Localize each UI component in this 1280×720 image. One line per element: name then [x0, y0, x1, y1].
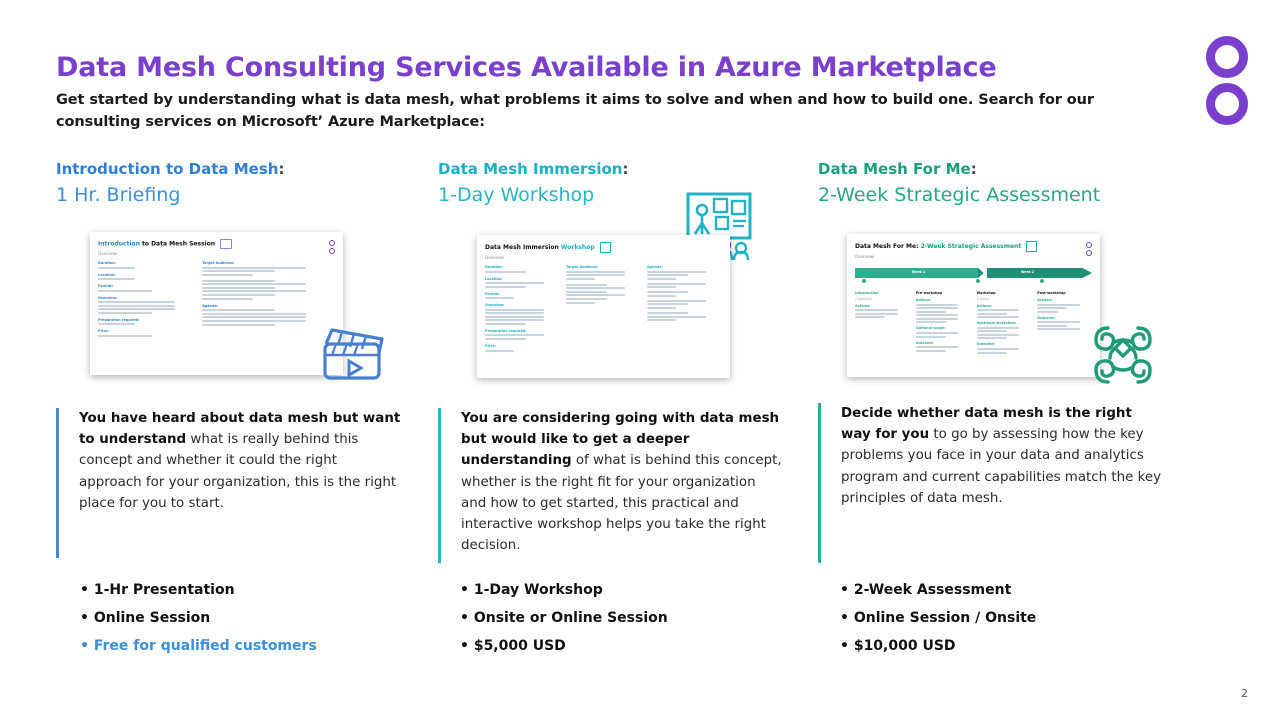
thumb-section-heading: Overview:: [485, 303, 560, 307]
thumb-logo-dots: [329, 240, 335, 256]
thumb-text-line: [202, 298, 252, 300]
thumb-text-line: [916, 346, 959, 348]
thumb-text-line: [485, 350, 514, 352]
thumb-text-line: [485, 309, 544, 311]
thumb-text-line: [485, 286, 526, 288]
list-item: • $10,000 USD: [840, 632, 1036, 660]
accent-bar: [56, 408, 59, 558]
timeline-phase-label: Week 2: [1021, 270, 1034, 274]
thumb-section-heading: Target Audience:: [202, 261, 335, 265]
column-kicker-colon: :: [278, 160, 284, 178]
thumb-text-line: [647, 278, 676, 280]
thumb-text-line: [916, 332, 959, 334]
thumb-text-line: [98, 312, 152, 314]
value-prop-for-me: Decide whether data mesh is the right wa…: [818, 403, 1163, 563]
thumb-text-line: [647, 291, 688, 293]
thumb-text-line: [566, 284, 607, 286]
thumb-logo-ring-bottom: [1086, 250, 1092, 256]
thumb-text-line: [202, 274, 252, 276]
thumb-text-line: [916, 304, 959, 306]
thumb-logo-ring-top: [329, 240, 335, 246]
thumb-title: Data Mesh Immersion Workshop: [485, 242, 722, 253]
thumb-panel-introduction: Introduction (Optional) Actions:: [855, 291, 910, 355]
thumb-text-line: [485, 271, 526, 273]
thumb-text-line: [916, 350, 946, 352]
thumb-text-line: [916, 321, 946, 323]
list-item: • 1-Day Workshop: [460, 576, 668, 604]
thumb-section-heading: Format:: [98, 284, 196, 288]
bullet-label: 1-Day Workshop: [474, 582, 603, 598]
thumb-text-line: [485, 316, 544, 318]
thumb-text-line: [977, 337, 1007, 339]
thumb-column-left: Duration: Location: Format: Overview: Pr…: [98, 261, 196, 338]
thumb-text-line: [566, 291, 607, 293]
timeline-phase-label: Week 1: [912, 270, 925, 274]
thumb-text-line: [855, 316, 885, 318]
thumb-text-line: [1037, 307, 1067, 309]
thumb-title-rest: 2-Week Strategic Assessment: [918, 243, 1021, 250]
thumb-title-rest: Workshop: [559, 244, 595, 251]
thumb-text-line: [202, 290, 306, 292]
thumb-panel-heading: Pre-workshop: [916, 291, 971, 295]
accent-bar: [438, 408, 441, 563]
thumb-panel-workshop: Workshop 4 hours Actions: Upstream works…: [977, 291, 1032, 355]
list-item: • $5,000 USD: [460, 632, 668, 660]
timeline-stop-dot: [976, 279, 980, 283]
thumb-text-line: [202, 309, 275, 311]
timeline-bar: [855, 268, 1092, 278]
thumb-section-heading: Actions:: [977, 304, 1032, 308]
thumb-section-heading: Price:: [485, 344, 560, 348]
thumb-section-heading: Duration:: [98, 261, 196, 265]
timeline-stop-dot: [1040, 279, 1044, 283]
thumb-section-heading: Format:: [485, 292, 560, 296]
list-item-highlight: • Free for qualified customers: [80, 632, 317, 660]
thumb-section-heading: Actions:: [855, 304, 910, 308]
thumb-text-line: [647, 319, 676, 321]
thumbnail-for-me-deck[interactable]: Data Mesh For Me: 2-Week Strategic Asses…: [847, 234, 1100, 377]
column-kicker-text: Data Mesh For Me: [818, 160, 971, 178]
bullet-label: Online Session: [94, 610, 210, 626]
thumb-title-strong: Data Mesh Immersion: [485, 244, 559, 251]
thumb-text-line: [566, 271, 625, 273]
thumb-logo-dots: [1086, 242, 1092, 258]
thumb-text-line: [202, 294, 275, 296]
thumb-panel-pre-workshop: Pre-workshop Actions: Optional scope: Ou…: [916, 291, 971, 355]
thumb-text-line: [855, 309, 898, 311]
thumb-text-line: [202, 267, 306, 269]
thumb-header: Introduction to Data Mesh Session Overvi…: [90, 232, 343, 259]
thumb-text-line: [977, 330, 1007, 332]
page-title: Data Mesh Consulting Services Available …: [56, 52, 996, 83]
thumb-panel-sub: 4 hours: [977, 297, 1032, 301]
thumb-text-line: [202, 324, 275, 326]
features-list-introduction: • 1-Hr Presentation • Online Session • F…: [80, 576, 317, 660]
thumb-text-line: [202, 270, 275, 272]
thumb-title-strong: Introduction: [98, 241, 140, 248]
bullet-label: Onsite or Online Session: [474, 610, 668, 626]
thumb-text-line: [855, 313, 898, 315]
thumb-section-heading: Duration:: [485, 265, 560, 269]
thumb-text-line: [98, 323, 135, 325]
column-kicker: Data Mesh For Me:: [818, 160, 1210, 179]
thumb-title-strong: Data Mesh For Me:: [855, 243, 918, 250]
bullet-label: 1-Hr Presentation: [94, 582, 235, 598]
thumb-text-line: [647, 295, 676, 297]
thumb-subtitle: Overview: [485, 255, 722, 260]
thumb-text-line: [977, 309, 1020, 311]
thumb-text-line: [98, 290, 152, 292]
column-kicker-text: Introduction to Data Mesh: [56, 160, 278, 178]
list-item: • Online Session: [80, 604, 317, 632]
thumb-text-line: [566, 298, 607, 300]
thumb-text-line: [202, 283, 306, 285]
thumb-text-line: [1037, 321, 1080, 323]
thumb-text-line: [647, 286, 676, 288]
thumb-logo-ring-bottom: [329, 248, 335, 254]
timeline-stops: [855, 282, 1092, 287]
page-number: 2: [1241, 687, 1248, 700]
thumb-text-line: [1037, 328, 1080, 330]
thumb-text-line: [916, 307, 959, 309]
column-kicker-text: Data Mesh Immersion: [438, 160, 622, 178]
thumb-text-line: [916, 336, 946, 338]
thumb-panel-heading: Workshop: [977, 291, 1032, 295]
thumb-text-line: [977, 313, 1007, 315]
thumb-text-line: [98, 305, 175, 307]
thumb-section-heading: Actions:: [916, 298, 971, 302]
thumb-text-line: [977, 334, 1020, 336]
list-item: • 2-Week Assessment: [840, 576, 1036, 604]
column-kicker: Introduction to Data Mesh:: [56, 160, 448, 179]
logo-ring-top: [1206, 36, 1248, 78]
page-subtitle: Get started by understanding what is dat…: [56, 90, 1141, 134]
thumb-text-line: [977, 352, 1007, 354]
thumb-section-heading: Location:: [98, 273, 196, 277]
column-immersion: Data Mesh Immersion: 1-Day Workshop: [438, 160, 830, 207]
thumb-section-heading: Price:: [98, 329, 196, 333]
thumb-text-line: [202, 320, 306, 322]
thumb-text-line: [647, 300, 706, 302]
thumb-section-heading: Target Audience:: [566, 265, 641, 269]
thumb-text-line: [916, 311, 946, 313]
features-list-immersion: • 1-Day Workshop • Onsite or Online Sess…: [460, 576, 668, 660]
thumb-text-line: [647, 316, 706, 318]
thumb-text-line: [98, 301, 175, 303]
value-prop-immersion: You are considering going with data mesh…: [438, 408, 783, 563]
thumb-text-line: [647, 307, 676, 309]
thumb-text-line: [485, 338, 526, 340]
thumb-text-line: [1037, 325, 1067, 327]
thumb-film-clapper-icon: [220, 239, 232, 249]
thumb-panel-post-workshop: Post-workshop Actions: Outcome:: [1037, 291, 1092, 355]
thoughtworks-logo: [1206, 36, 1252, 130]
thumb-text-line: [98, 308, 175, 310]
thumb-text-line: [647, 274, 688, 276]
thumb-text-line: [485, 297, 514, 299]
thumb-section-heading: Location:: [485, 277, 560, 281]
thumb-section-heading: Outcome:: [977, 342, 1032, 346]
thumb-title-rest: to Data Mesh Session: [140, 241, 215, 248]
column-kicker-colon: :: [622, 160, 628, 178]
thumb-title: Data Mesh For Me: 2-Week Strategic Asses…: [855, 241, 1092, 252]
thumb-column-middle: Target Audience:: [566, 265, 641, 353]
thumb-text-line: [98, 335, 152, 337]
thumb-text-line: [977, 348, 1020, 350]
thumb-section-heading: Outcome:: [1037, 316, 1092, 320]
thumb-text-line: [202, 280, 275, 282]
thumb-text-line: [485, 334, 544, 336]
thumb-text-line: [485, 312, 544, 314]
thumb-body: Introduction (Optional) Actions: Pre-wor…: [847, 287, 1100, 357]
thumb-text-line: [202, 287, 275, 289]
thumb-header: Data Mesh For Me: 2-Week Strategic Asses…: [847, 234, 1100, 262]
thumb-subtitle: Overview: [98, 251, 335, 256]
thumb-column-agenda: Agenda:: [647, 265, 722, 353]
thumb-panel-sub: (Optional): [855, 297, 910, 301]
thumb-text-line: [485, 282, 544, 284]
bullet-label: Free for qualified customers: [94, 638, 317, 654]
thumb-header: Data Mesh Immersion Workshop Overview: [477, 235, 730, 263]
accent-bar: [818, 403, 821, 563]
thumb-text-line: [647, 312, 688, 314]
features-list-for-me: • 2-Week Assessment • Online Session / O…: [840, 576, 1036, 660]
value-prop-introduction: You have heard about data mesh but want …: [56, 408, 401, 558]
thumbnail-introduction-deck[interactable]: Introduction to Data Mesh Session Overvi…: [90, 232, 343, 375]
column-headline: 1 Hr. Briefing: [56, 183, 448, 208]
thumb-presentation-board-icon: [600, 242, 611, 253]
bullet-label: Online Session / Onsite: [854, 610, 1036, 626]
list-item: • Online Session / Onsite: [840, 604, 1036, 632]
thumb-text-line: [977, 327, 1020, 329]
thumb-text-line: [647, 283, 706, 285]
thumb-panel-heading: Introduction: [855, 291, 910, 295]
column-headline: 2-Week Strategic Assessment: [818, 183, 1210, 208]
thumb-section-heading: Agenda:: [202, 304, 335, 308]
column-for-me: Data Mesh For Me: 2-Week Strategic Asses…: [818, 160, 1210, 207]
thumb-section-heading: Optional scope:: [916, 326, 971, 330]
thumb-text-line: [202, 316, 306, 318]
thumb-mesh-knot-icon: [1026, 241, 1037, 252]
bullet-label: $5,000 USD: [474, 638, 566, 654]
column-kicker: Data Mesh Immersion:: [438, 160, 830, 179]
thumb-text-line: [566, 302, 595, 304]
thumb-section-heading: Upstream workshop:: [977, 321, 1032, 325]
list-item: • Onsite or Online Session: [460, 604, 668, 632]
logo-ring-bottom: [1206, 83, 1248, 125]
thumb-text-line: [566, 287, 625, 289]
thumb-text-line: [1037, 311, 1058, 313]
column-headline: 1-Day Workshop: [438, 183, 830, 208]
thumb-text-line: [98, 267, 135, 269]
column-kicker-colon: :: [971, 160, 977, 178]
film-clapper-icon: [316, 322, 388, 384]
thumb-section-heading: Preparation required:: [485, 329, 560, 333]
thumbnail-immersion-deck[interactable]: Data Mesh Immersion Workshop Overview Du…: [477, 235, 730, 378]
thumb-section-heading: Overview:: [98, 296, 196, 300]
thumb-panel-heading: Post-workshop: [1037, 291, 1092, 295]
slide-canvas: Data Mesh Consulting Services Available …: [0, 0, 1280, 720]
bullet-label: 2-Week Assessment: [854, 582, 1011, 598]
thumb-text-line: [98, 278, 135, 280]
thumb-text-line: [916, 318, 959, 320]
thumb-body: Duration: Location: Format: Overview: Pr…: [477, 263, 730, 355]
thumb-section-heading: Outcome:: [916, 341, 971, 345]
mesh-knot-icon: [1086, 318, 1160, 392]
thumb-text-line: [916, 314, 959, 316]
thumb-timeline: Week 1 Week 2: [855, 268, 1092, 278]
thumb-text-line: [485, 323, 526, 325]
thumb-text-line: [566, 274, 625, 276]
thumb-section-heading: Agenda:: [647, 265, 722, 269]
timeline-stop-dot: [862, 279, 866, 283]
bullet-label: $10,000 USD: [854, 638, 956, 654]
thumb-text-line: [485, 319, 544, 321]
thumb-text-line: [566, 294, 625, 296]
thumb-text-line: [647, 303, 688, 305]
thumb-title: Introduction to Data Mesh Session: [98, 239, 335, 249]
thumb-section-heading: Actions:: [1037, 298, 1092, 302]
thumb-text-line: [566, 278, 595, 280]
thumb-column-left: Duration: Location: Format: Overview: Pr…: [485, 265, 560, 353]
thumb-section-heading: Preparation required:: [98, 318, 196, 322]
thumb-text-line: [202, 313, 306, 315]
thumb-text-line: [977, 316, 1020, 318]
thumb-text-line: [1037, 304, 1080, 306]
thumb-text-line: [647, 271, 706, 273]
list-item: • 1-Hr Presentation: [80, 576, 317, 604]
thumb-subtitle: Overview: [855, 254, 1092, 259]
column-introduction: Introduction to Data Mesh: 1 Hr. Briefin…: [56, 160, 448, 207]
thumb-logo-ring-top: [1086, 242, 1092, 248]
thumb-body: Duration: Location: Format: Overview: Pr…: [90, 259, 343, 340]
